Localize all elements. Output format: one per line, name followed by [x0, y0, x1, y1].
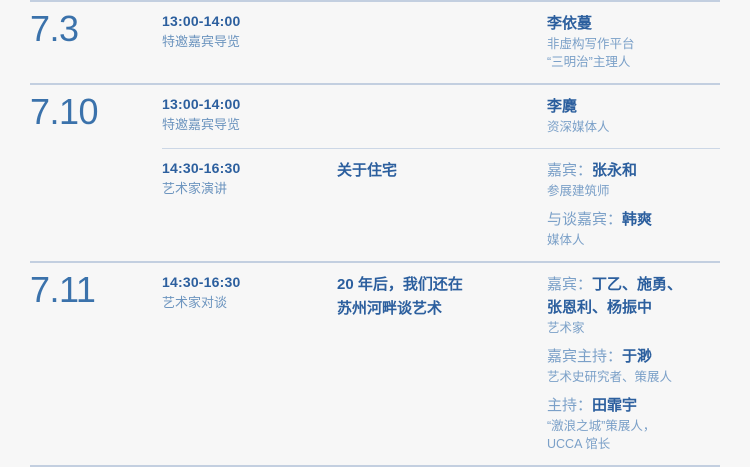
person-name: 田霏宇: [592, 397, 637, 414]
person-name: 李依蔓: [547, 15, 592, 32]
time-column: 14:30-16:30艺术家对谈: [162, 273, 337, 313]
people-column: 李麑资深媒体人: [547, 95, 750, 136]
event-time: 14:30-16:30: [162, 273, 337, 292]
event-type: 特邀嘉宾导览: [162, 115, 337, 135]
person-entry: 嘉宾：张永和参展建筑师: [547, 159, 720, 200]
time-column: 14:30-16:30艺术家演讲: [162, 159, 337, 199]
person-role-label: 嘉宾：: [547, 276, 592, 293]
person-description: 资深媒体人: [547, 118, 720, 136]
person-entry: 李麑资深媒体人: [547, 95, 720, 136]
date-column: 7.10: [0, 85, 162, 133]
event-title: 20 年后，我们还在苏州河畔谈艺术: [337, 273, 547, 321]
person-name: 李麑: [547, 98, 577, 115]
date-label: 7.10: [30, 91, 162, 133]
person-name: 于渺: [622, 348, 652, 365]
person-role-label: 嘉宾：: [547, 162, 592, 179]
person-name-line: 李麑: [547, 95, 720, 118]
person-name-line: 与谈嘉宾：韩爽: [547, 208, 720, 231]
person-description: 非虚构写作平台“三明治”主理人: [547, 35, 720, 71]
people-column: 嘉宾：张永和参展建筑师与谈嘉宾：韩爽媒体人: [547, 159, 750, 249]
person-role-label: 与谈嘉宾：: [547, 211, 622, 228]
person-entry: 李依蔓非虚构写作平台“三明治”主理人: [547, 12, 720, 71]
person-description: 艺术家: [547, 319, 720, 337]
event-schedule-table: 7.313:00-14:00特邀嘉宾导览李依蔓非虚构写作平台“三明治”主理人7.…: [0, 0, 750, 446]
event-type: 艺术家演讲: [162, 179, 337, 199]
people-column: 嘉宾：丁乙、施勇、张恩利、杨振中艺术家嘉宾主持：于渺艺术史研究者、策展人主持：田…: [547, 273, 750, 453]
person-description: 媒体人: [547, 231, 720, 249]
event-title: 关于住宅: [337, 159, 547, 183]
events-column: 14:30-16:30艺术家对谈20 年后，我们还在苏州河畔谈艺术嘉宾：丁乙、施…: [162, 263, 750, 465]
person-name-line: 嘉宾主持：于渺: [547, 345, 720, 368]
event-time: 13:00-14:00: [162, 12, 337, 31]
person-name: 张永和: [592, 162, 637, 179]
person-name-line: 嘉宾：张永和: [547, 159, 720, 182]
date-column: 7.11: [0, 263, 162, 311]
date-column: 7.3: [0, 2, 162, 50]
events-column: 13:00-14:00特邀嘉宾导览李麑资深媒体人14:30-16:30艺术家演讲…: [162, 85, 750, 261]
title-column: 20 年后，我们还在苏州河畔谈艺术: [337, 273, 547, 321]
person-name: 韩爽: [622, 211, 652, 228]
person-entry: 与谈嘉宾：韩爽媒体人: [547, 208, 720, 249]
event-row[interactable]: 13:00-14:00特邀嘉宾导览李依蔓非虚构写作平台“三明治”主理人: [162, 2, 750, 83]
schedule-days: 7.313:00-14:00特邀嘉宾导览李依蔓非虚构写作平台“三明治”主理人7.…: [0, 2, 750, 465]
event-type: 艺术家对谈: [162, 293, 337, 313]
person-name-line: 主持：田霏宇: [547, 394, 720, 417]
event-time: 13:00-14:00: [162, 95, 337, 114]
person-description: “激浪之城”策展人，UCCA 馆长: [547, 417, 720, 453]
person-entry: 嘉宾：丁乙、施勇、张恩利、杨振中艺术家: [547, 273, 720, 337]
schedule-day: 7.1114:30-16:30艺术家对谈20 年后，我们还在苏州河畔谈艺术嘉宾：…: [0, 263, 750, 465]
time-column: 13:00-14:00特邀嘉宾导览: [162, 95, 337, 135]
person-description: 参展建筑师: [547, 182, 720, 200]
person-role-label: 主持：: [547, 397, 592, 414]
time-column: 13:00-14:00特邀嘉宾导览: [162, 12, 337, 52]
person-role-label: 嘉宾主持：: [547, 348, 622, 365]
event-type: 特邀嘉宾导览: [162, 32, 337, 52]
person-name-line: 嘉宾：丁乙、施勇、张恩利、杨振中: [547, 273, 720, 319]
title-column: 关于住宅: [337, 159, 547, 183]
people-column: 李依蔓非虚构写作平台“三明治”主理人: [547, 12, 750, 71]
person-entry: 嘉宾主持：于渺艺术史研究者、策展人: [547, 345, 720, 386]
schedule-day: 7.313:00-14:00特邀嘉宾导览李依蔓非虚构写作平台“三明治”主理人: [0, 2, 750, 83]
person-description: 艺术史研究者、策展人: [547, 368, 720, 386]
date-label: 7.3: [30, 8, 162, 50]
event-row[interactable]: 13:00-14:00特邀嘉宾导览李麑资深媒体人: [162, 85, 750, 148]
person-entry: 主持：田霏宇“激浪之城”策展人，UCCA 馆长: [547, 394, 720, 453]
person-name-line: 李依蔓: [547, 12, 720, 35]
event-row[interactable]: 14:30-16:30艺术家对谈20 年后，我们还在苏州河畔谈艺术嘉宾：丁乙、施…: [162, 263, 750, 465]
events-column: 13:00-14:00特邀嘉宾导览李依蔓非虚构写作平台“三明治”主理人: [162, 2, 750, 83]
schedule-day: 7.1013:00-14:00特邀嘉宾导览李麑资深媒体人14:30-16:30艺…: [0, 85, 750, 261]
event-time: 14:30-16:30: [162, 159, 337, 178]
date-label: 7.11: [30, 269, 162, 311]
event-row[interactable]: 14:30-16:30艺术家演讲关于住宅嘉宾：张永和参展建筑师与谈嘉宾：韩爽媒体…: [162, 149, 750, 261]
